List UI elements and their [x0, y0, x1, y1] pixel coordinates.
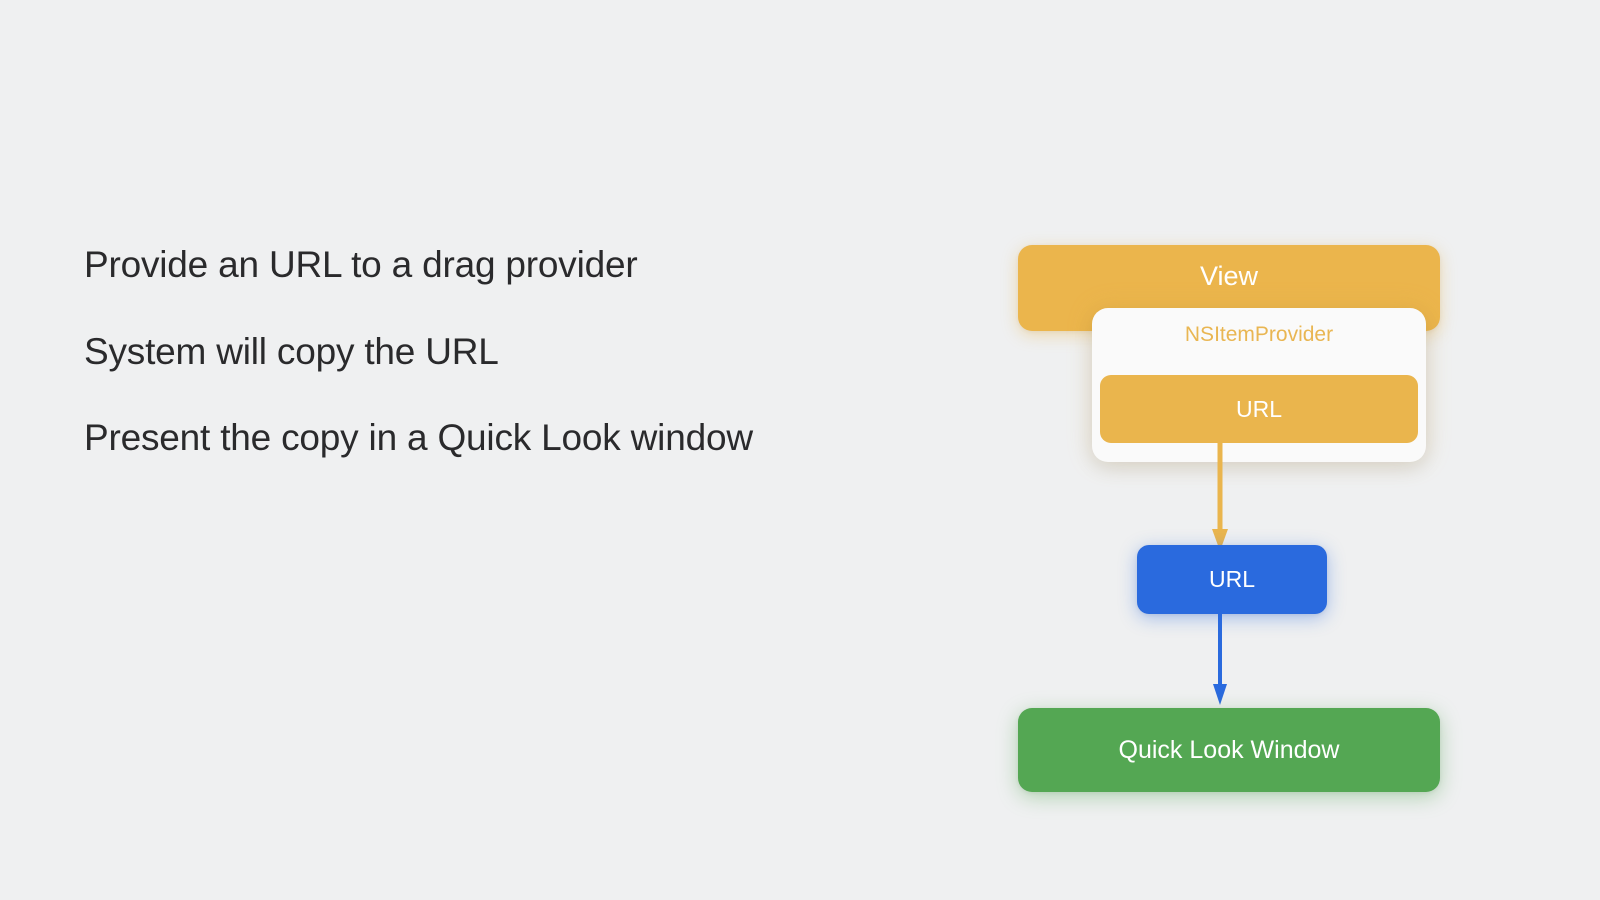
diagram-node-quick-look-window-label: Quick Look Window [1119, 736, 1340, 765]
diagram-node-nsitemprovider-label: NSItemProvider [1092, 323, 1426, 347]
bullet-line-3: Present the copy in a Quick Look window [84, 416, 884, 460]
bullet-line-1: Provide an URL to a drag provider [84, 243, 884, 287]
diagram-node-url-blue: URL [1137, 545, 1327, 614]
diagram-node-url-inner-label: URL [1236, 396, 1282, 423]
arrow-down-amber-icon [1212, 425, 1228, 553]
diagram-node-url-inner: URL [1100, 375, 1418, 443]
bullet-list: Provide an URL to a drag provider System… [84, 243, 884, 460]
diagram-node-quick-look-window: Quick Look Window [1018, 708, 1440, 792]
diagram-node-url-blue-label: URL [1209, 566, 1255, 593]
diagram-node-view-label: View [1200, 261, 1258, 292]
bullet-line-2: System will copy the URL [84, 330, 884, 374]
diagram-node-nsitemprovider: NSItemProvider URL [1092, 308, 1426, 462]
arrow-down-blue-icon [1212, 611, 1228, 706]
flow-diagram: View NSItemProvider URL URL Quick Look W… [990, 225, 1490, 825]
